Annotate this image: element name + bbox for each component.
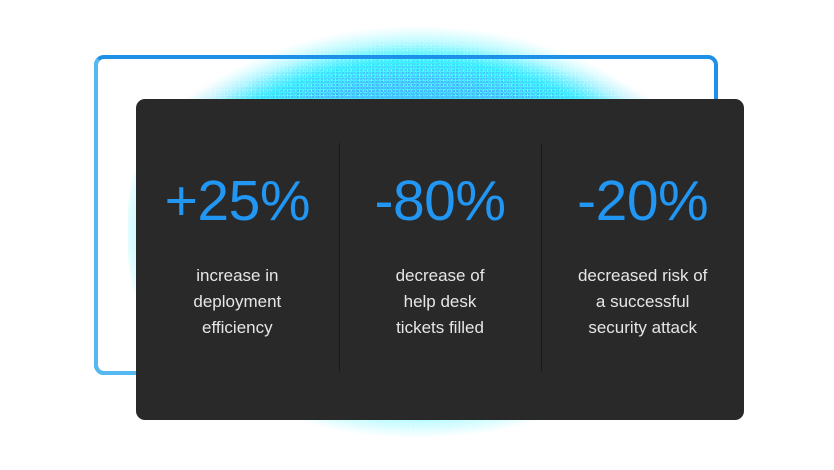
stats-card: +25% increase in deployment efficiency -… bbox=[136, 99, 744, 420]
stat-value-help-desk-tickets: -80% bbox=[374, 173, 505, 230]
stat-value-security-attack-risk: -20% bbox=[577, 173, 708, 230]
stat-column-help-desk-tickets: -80% decrease of help desk tickets fille… bbox=[339, 99, 542, 420]
stat-column-security-attack-risk: -20% decreased risk of a successful secu… bbox=[541, 99, 744, 420]
stat-column-deployment-efficiency: +25% increase in deployment efficiency bbox=[136, 99, 339, 420]
stat-value-deployment-efficiency: +25% bbox=[165, 173, 310, 230]
stat-label-security-attack-risk: decreased risk of a successful security … bbox=[578, 263, 707, 341]
stats-graphic: +25% increase in deployment efficiency -… bbox=[0, 0, 834, 470]
stat-label-help-desk-tickets: decrease of help desk tickets filled bbox=[396, 263, 485, 341]
stat-label-deployment-efficiency: increase in deployment efficiency bbox=[193, 263, 281, 341]
